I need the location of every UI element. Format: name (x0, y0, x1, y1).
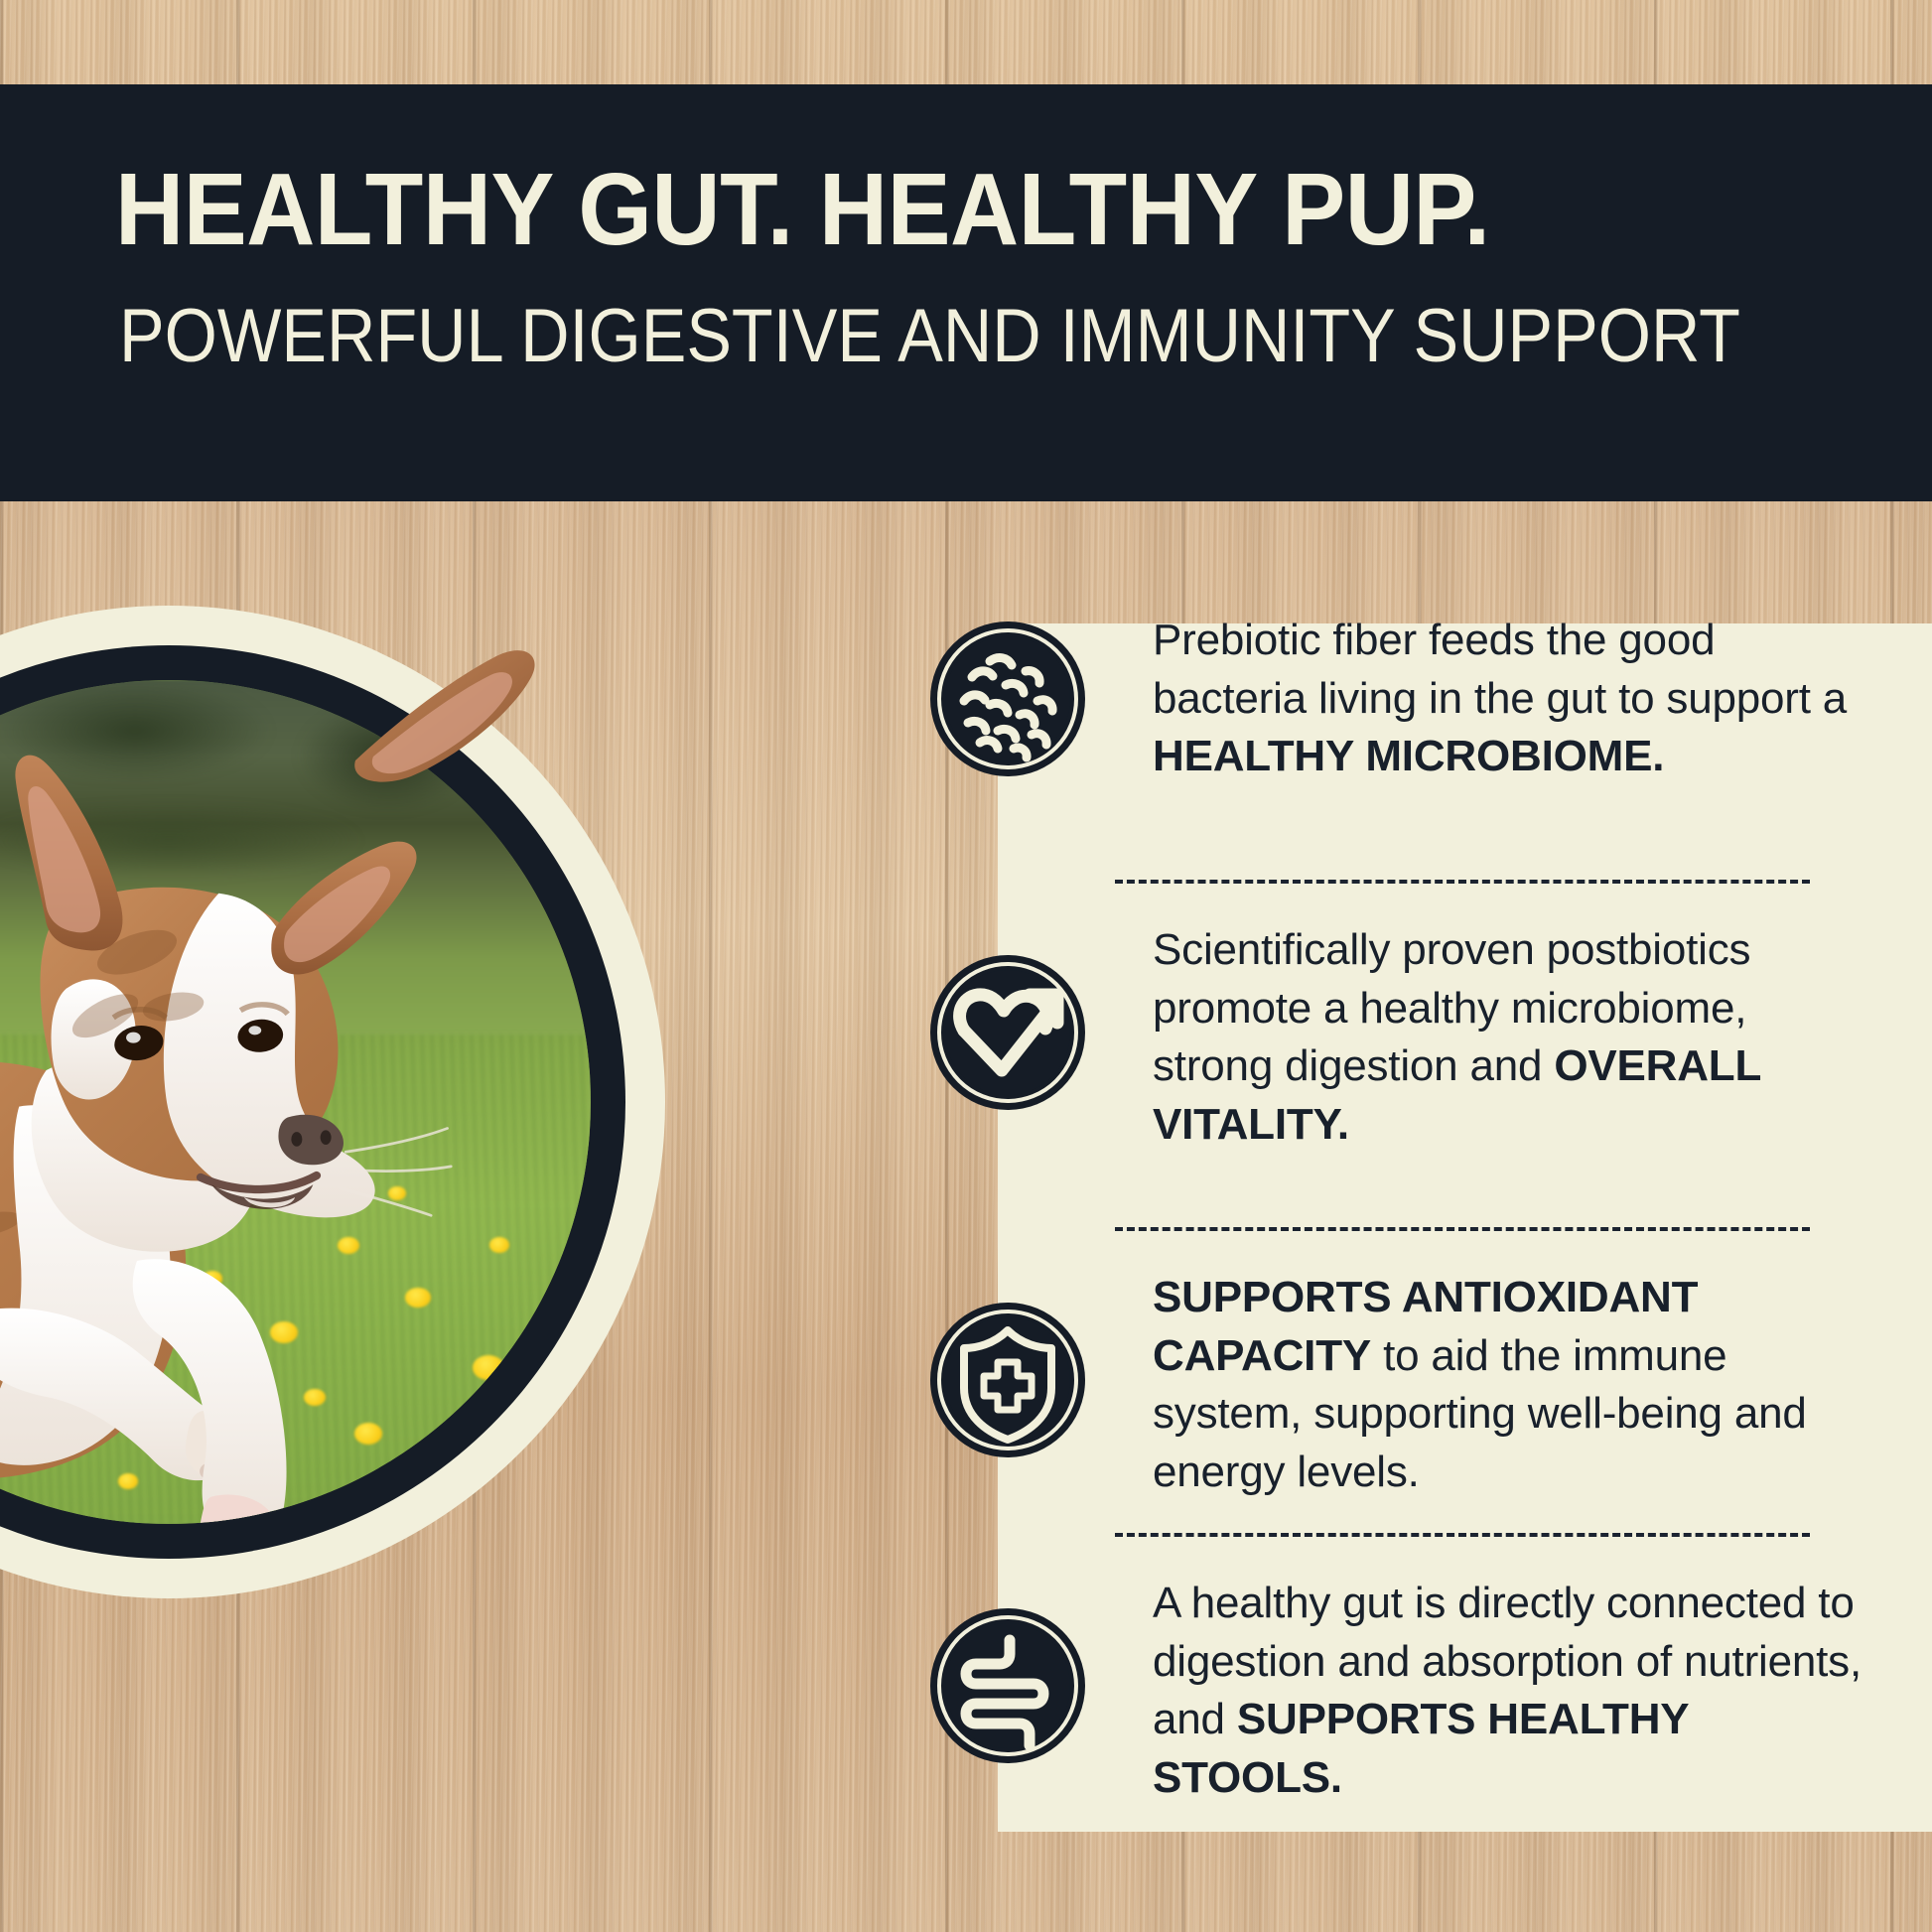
benefit-text-antioxidant: SUPPORTS ANTIOXIDANT CAPACITY to aid the… (1153, 1269, 1867, 1501)
bacteria-icon (928, 620, 1087, 778)
benefit-item-stools: A healthy gut is directly connected to d… (998, 1575, 1932, 1807)
benefit-text-microbiome: Prebiotic fiber feeds the good bacteria … (1153, 612, 1867, 786)
benefit-tail-3: . (1330, 1753, 1342, 1802)
benefit-text-stools: A healthy gut is directly connected to d… (1153, 1575, 1867, 1807)
benefits-list: Prebiotic fiber feeds the good bacteria … (998, 623, 1932, 1832)
benefit-tail-0: . (1652, 732, 1664, 780)
benefit-item-microbiome: Prebiotic fiber feeds the good bacteria … (998, 612, 1932, 786)
benefit-item-antioxidant: SUPPORTS ANTIOXIDANT CAPACITY to aid the… (998, 1269, 1932, 1501)
dog-illustration (0, 680, 591, 1524)
divider-3 (1115, 1533, 1810, 1537)
dog-photo-frame (0, 606, 665, 1598)
benefit-emphasis-0: HEALTHY MICROBIOME (1153, 732, 1652, 780)
divider-1 (1115, 880, 1810, 884)
page-title: HEALTHY GUT. HEALTHY PUP. (115, 158, 1490, 260)
shield-cross-icon (928, 1301, 1087, 1459)
benefit-text-vitality: Scientifically proven postbiotics promot… (1153, 921, 1867, 1154)
benefit-tail-1: . (1337, 1100, 1349, 1149)
header-banner: HEALTHY GUT. HEALTHY PUP. POWERFUL DIGES… (0, 84, 1932, 501)
page-subtitle: POWERFUL DIGESTIVE AND IMMUNITY SUPPORT (119, 299, 1740, 374)
heart-arrow-icon (928, 953, 1087, 1112)
benefit-lead-0: Prebiotic fiber feeds the good bacteria … (1153, 616, 1847, 723)
divider-2 (1115, 1227, 1810, 1231)
benefit-item-vitality: Scientifically proven postbiotics promot… (998, 921, 1932, 1154)
intestine-icon (928, 1606, 1087, 1765)
dog-photo-ring (0, 645, 625, 1559)
dog-photo (0, 680, 591, 1524)
